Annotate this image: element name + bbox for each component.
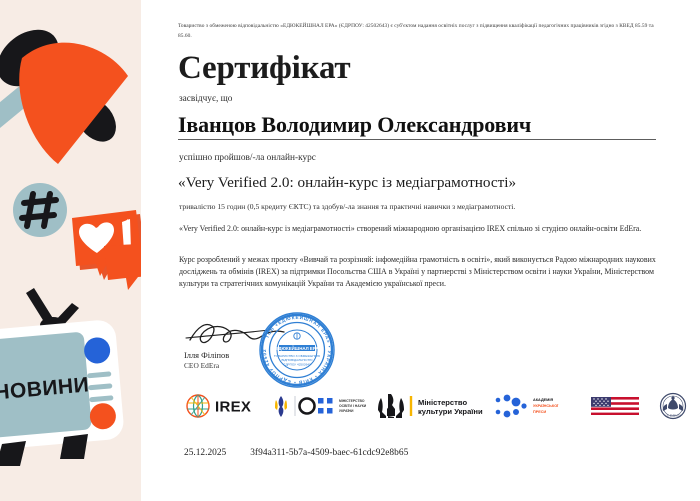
issue-date: 25.12.2025 [184,448,226,458]
svg-text:U.S. EMBASSY: U.S. EMBASSY [665,415,682,418]
us-embassy-seal-logo: U.S. EMBASSY [647,391,699,421]
certificate-page: НОВИНИ Товариство з обмеженою відповідал… [0,0,700,501]
svg-text:культури України: культури України [418,407,483,416]
svg-text:IREX: IREX [215,399,251,416]
certificate-content: Товариство з обмеженою відповідальністю … [141,0,700,501]
tv-icon: НОВИНИ [0,319,125,466]
seal-inner-label: ЕДЮКЕЙШНАЛ ЕРА [275,346,319,351]
course-title: «Very Verified 2.0: онлайн-курс із медіа… [178,173,516,192]
page-title: Сертифікат [178,52,350,85]
attest-line: засвідчує, що [179,94,232,104]
svg-text:Міністерство: Міністерство [418,398,467,407]
certificate-id: 3f94a311-5b7a-4509-baec-61cdc92e8b65 [250,448,408,458]
svg-text:УКРАЇНСЬКОЇ: УКРАЇНСЬКОЇ [533,404,559,408]
svg-text:УКРАЇНИ: УКРАЇНИ [339,409,354,413]
svg-text:АКАДЕМІЯ: АКАДЕМІЯ [533,398,553,402]
academy-ukrainian-press-logo: АКАДЕМІЯ УКРАЇНСЬКОЇ ПРЕСИ [493,391,585,421]
company-seal-icon: ТОВ «ЕДЮКЕЙШНАЛ ЕРА» • УКРАЇНА • КИЇВ • … [257,310,337,390]
recipient-underline [178,139,656,140]
ministry-culture-logo: Міністерство культури України [375,391,493,421]
recipient-block: Іванцов Володимир Олександрович [178,112,656,140]
svg-text:ПРЕСИ: ПРЕСИ [533,410,547,414]
recipient-name: Іванцов Володимир Олександрович [178,112,656,138]
ministry-education-logo: МІНІСТЕРСТВО ОСВІТИ І НАУКИ УКРАЇНИ [271,391,375,421]
speech-bubble-icon [96,232,141,290]
project-description-paragraph: Курс розроблений у межах проєкту «Вивчай… [179,254,675,290]
decorative-sidebar: НОВИНИ [0,0,141,501]
irex-logo: IREX [185,391,271,421]
svg-text:ЄДРПОУ 42502643: ЄДРПОУ 42502643 [283,363,311,367]
completion-line: успішно пройшов/-ла онлайн-курс [179,153,316,163]
hashtag-icon [13,183,67,237]
us-flag-logo [585,391,647,421]
legal-note: Товариство з обмеженою відповідальністю … [178,21,668,41]
course-duration-line: тривалістю 15 годин (0,5 кредиту ЄКТС) т… [179,201,671,212]
certificate-footer: 25.12.2025 3f94a311-5b7a-4509-baec-61cdc… [184,448,408,458]
svg-text:ВІДПОВІДАЛЬНІСТЮ: ВІДПОВІДАЛЬНІСТЮ [281,358,312,362]
course-origin-paragraph: «Very Verified 2.0: онлайн-курс із медіа… [179,223,675,235]
megaphone-icon [0,18,128,164]
svg-text:МІНІСТЕРСТВО: МІНІСТЕРСТВО [339,399,365,403]
svg-text:ОСВІТИ І НАУКИ: ОСВІТИ І НАУКИ [339,404,367,408]
partner-logos: IREX МІНІСТЕРСТВО ОСВІТИ І НАУКИ УКРАЇ [185,391,695,421]
